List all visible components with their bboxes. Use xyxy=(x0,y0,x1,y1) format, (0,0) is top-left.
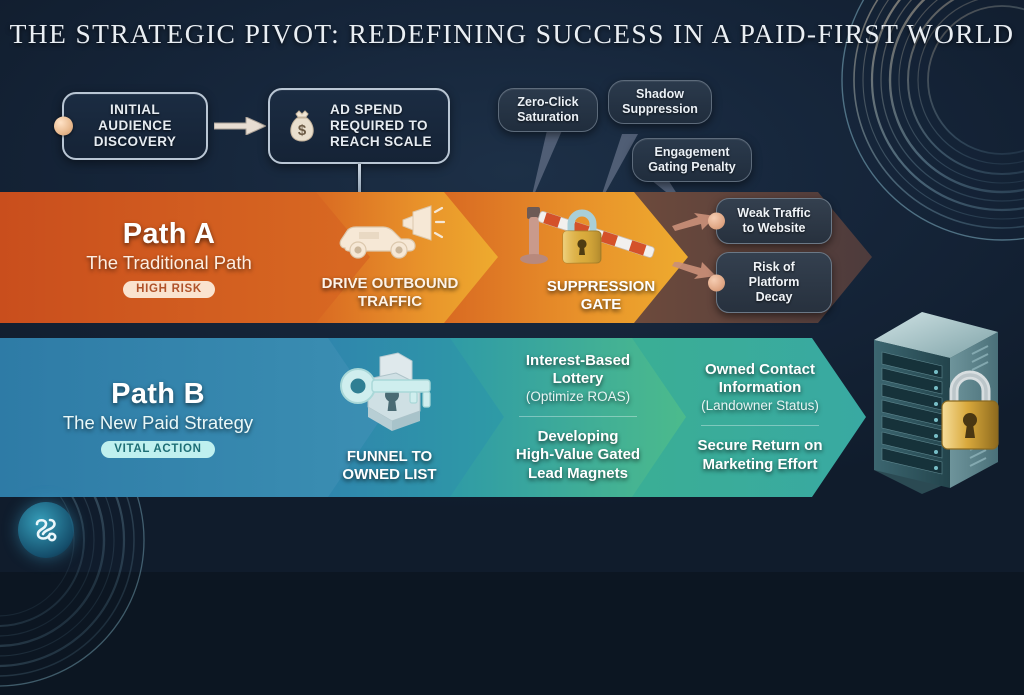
outcome-weak-traffic[interactable]: Weak Traffic to Website xyxy=(716,198,832,244)
path-a-step-suppression-gate-label: SUPPRESSION GATE xyxy=(547,278,655,314)
path-b-owned-contact-top: Owned Contact Information (Landowner Sta… xyxy=(701,361,819,414)
connector-line xyxy=(358,164,361,194)
path-b-interest-lottery-top: Interest-Based Lottery (Optimize ROAS) xyxy=(526,352,630,405)
infographic-canvas: { "title": "THE STRATEGIC PIVOT: REDEFIN… xyxy=(0,0,1024,572)
path-a-title: Path A xyxy=(123,218,216,251)
barrier-padlock-icon xyxy=(511,201,691,274)
path-b-title: Path B xyxy=(111,378,205,411)
path-b-vital-badge: VITAL ACTION xyxy=(101,441,214,458)
step-divider xyxy=(701,425,819,426)
path-a-subtitle: The Traditional Path xyxy=(86,252,252,274)
path-a-step-drive-outbound-label: DRIVE OUTBOUND TRAFFIC xyxy=(322,275,459,311)
node-anchor-dot xyxy=(54,117,73,136)
path-b-interest-lottery-bottom: Developing High-Value Gated Lead Magnets xyxy=(516,428,640,483)
node-ad-spend-required[interactable]: $ AD SPEND REQUIRED TO REACH SCALE xyxy=(268,88,450,164)
path-a-title-block: Path A The Traditional Path HIGH RISK xyxy=(44,192,294,323)
callout-engagement-gating-penalty[interactable]: Engagement Gating Penalty xyxy=(632,138,752,182)
path-b-subtitle: The New Paid Strategy xyxy=(63,412,253,434)
path-b-step-funnel-owned-list[interactable]: FUNNEL TO OWNED LIST xyxy=(292,338,487,497)
node-ad-spend-label: AD SPEND REQUIRED TO REACH SCALE xyxy=(330,102,432,150)
path-b-title-block: Path B The New Paid Strategy VITAL ACTIO… xyxy=(28,338,288,497)
outcome-anchor-dot xyxy=(708,274,725,291)
brand-logo-icon xyxy=(18,502,74,558)
callout-zero-click-saturation[interactable]: Zero-Click Saturation xyxy=(498,88,598,132)
callout-shadow-suppression[interactable]: Shadow Suppression xyxy=(608,80,712,124)
node-initial-audience-discovery[interactable]: INITIAL AUDIENCE DISCOVERY xyxy=(62,92,208,160)
outcome-platform-decay[interactable]: Risk of Platform Decay xyxy=(716,252,832,313)
path-b-step-owned-contact[interactable]: Owned Contact Information (Landowner Sta… xyxy=(660,338,860,497)
path-b-step-interest-lottery[interactable]: Interest-Based Lottery (Optimize ROAS) D… xyxy=(478,338,678,497)
outcome-anchor-dot xyxy=(708,213,725,230)
car-megaphone-icon xyxy=(331,204,449,269)
money-bag-icon: $ xyxy=(282,106,322,146)
svg-text:$: $ xyxy=(298,122,307,139)
path-a-step-drive-outbound[interactable]: DRIVE OUTBOUND TRAFFIC xyxy=(290,192,490,323)
step-divider xyxy=(519,416,637,417)
path-b-step-funnel-label: FUNNEL TO OWNED LIST xyxy=(342,448,436,484)
page-title: THE STRATEGIC PIVOT: REDEFINING SUCCESS … xyxy=(0,18,1024,50)
path-b-owned-contact-bottom: Secure Return on Marketing Effort xyxy=(697,437,822,474)
node-initial-label: INITIAL AUDIENCE DISCOVERY xyxy=(94,102,177,150)
flow-arrow-icon xyxy=(214,117,266,135)
server-padlock-icon xyxy=(866,306,1006,504)
path-a-risk-badge: HIGH RISK xyxy=(123,281,215,298)
key-lock-icon xyxy=(334,351,446,442)
path-a-band: Path A The Traditional Path HIGH RISK xyxy=(0,192,1024,323)
